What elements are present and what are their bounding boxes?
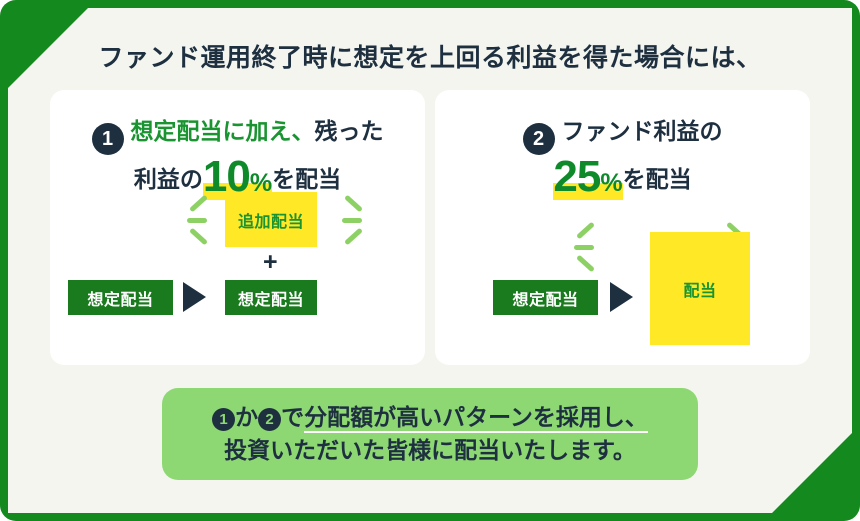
- card-1-heading-line-2: 利益の10%を配当: [50, 152, 425, 202]
- banner-line-1-head: で: [281, 404, 304, 430]
- card-1-percent-sign: %: [250, 169, 272, 197]
- card-2-percent-sign: %: [600, 169, 622, 197]
- card-2-percent-suffix: を配当: [623, 166, 692, 192]
- sparkle-icon-left: [185, 193, 211, 247]
- card-pattern-1: 1想定配当に加え、残った 利益の10%を配当 想定配当 追加配当 + 想定配当: [50, 90, 425, 365]
- card-1-heading-line-1: 1想定配当に加え、残った: [50, 112, 425, 155]
- mini-badge-1: 1: [212, 408, 235, 431]
- card-2-before-box: 想定配当: [493, 280, 598, 315]
- plus-sign: +: [263, 250, 278, 275]
- card-1-heading-green: 想定配当に加え、: [131, 118, 315, 144]
- card-1-heading-dark: 残った: [315, 118, 384, 144]
- card-2-heading-line-2: 25%を配当: [435, 152, 810, 202]
- banner-line-2: 投資いただいた皆様に配当いたします。: [162, 434, 698, 467]
- triangle-right-icon: [183, 282, 206, 312]
- mini-badge-2: 2: [258, 408, 281, 431]
- card-2-dividend-box: 配当: [650, 232, 750, 345]
- card-2-percent-highlight: 25%: [553, 152, 622, 202]
- banner-line-1: 1か2で分配額が高いパターンを採用し、: [162, 401, 698, 434]
- card-1-percent-prefix: 利益の: [134, 166, 203, 192]
- card-1-percent-suffix: を配当: [272, 166, 341, 192]
- card-1-percent-number: 10: [203, 152, 250, 201]
- triangle-right-icon: [610, 282, 633, 312]
- badge-number-2: 2: [523, 123, 555, 155]
- card-1-before-box: 想定配当: [68, 280, 173, 315]
- banner-conjunction: か: [235, 404, 258, 430]
- card-2-heading-line-1: 2ファンド利益の: [435, 112, 810, 155]
- banner-line-1-underlined: 分配額が高いパターンを採用し、: [304, 404, 648, 433]
- card-1-percent-highlight: 10%: [203, 152, 272, 202]
- card-pattern-2: 2ファンド利益の 25%を配当 想定配当 配当: [435, 90, 810, 365]
- sparkle-icon-right: [340, 193, 366, 247]
- card-2-heading-dark: ファンド利益の: [562, 118, 723, 144]
- summary-banner: 1か2で分配額が高いパターンを採用し、 投資いただいた皆様に配当いたします。: [162, 388, 698, 480]
- sparkle-icon-left: [572, 220, 598, 274]
- card-1-after-base-box: 想定配当: [225, 280, 317, 315]
- card-2-percent-number: 25: [553, 152, 600, 201]
- page-title: ファンド運用終了時に想定を上回る利益を得た場合には、: [0, 38, 860, 74]
- poster-root: ファンド運用終了時に想定を上回る利益を得た場合には、 1想定配当に加え、残った …: [0, 0, 860, 521]
- badge-number-1: 1: [92, 123, 124, 155]
